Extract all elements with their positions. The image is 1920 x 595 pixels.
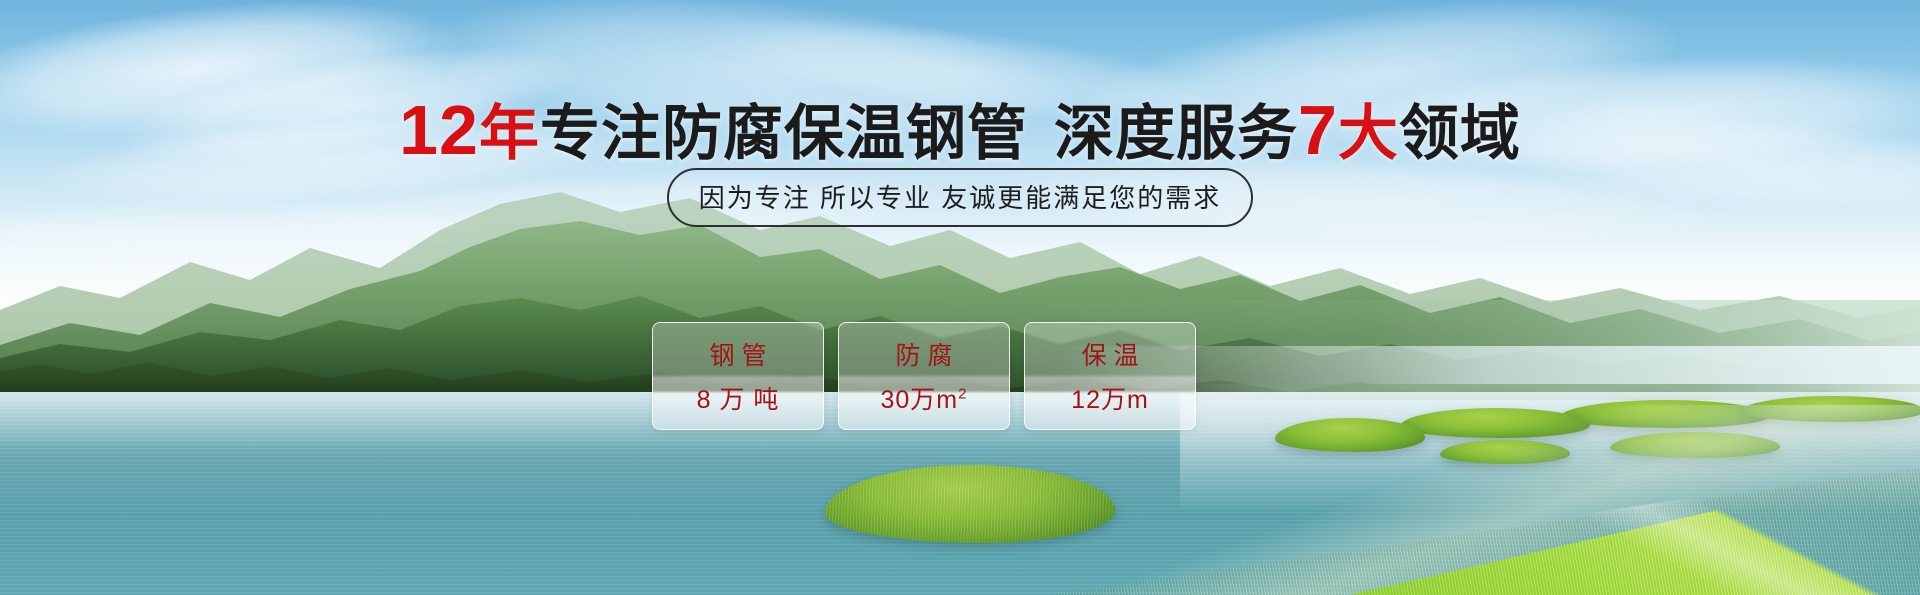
subtitle-pill: 因为专注 所以专业 友诚更能满足您的需求 (667, 168, 1253, 227)
stat-card-title: 防腐 (888, 336, 959, 372)
headline-service-text: 深度服务 (1054, 100, 1298, 167)
headline-focus-text: 专注防腐保温钢管 (540, 100, 1028, 167)
stat-card-value-base: 12万m (1071, 386, 1149, 414)
hero-banner: 12年专注防腐保温钢管深度服务7大领域 因为专注 所以专业 友诚更能满足您的需求… (0, 0, 1920, 595)
stat-card-steel-pipe[interactable]: 钢管 8 万 吨 (652, 322, 824, 430)
stat-card-value: 8 万 吨 (697, 380, 780, 416)
headline-years-number: 12 (399, 91, 479, 169)
headline-years-unit: 年 (479, 100, 540, 167)
page-title: 12年专注防腐保温钢管深度服务7大领域 (0, 85, 1920, 172)
headline-fields-tail: 领域 (1399, 100, 1521, 167)
stat-card-anticorrosion[interactable]: 防腐 30万m2 (838, 322, 1010, 430)
stat-card-title: 钢管 (702, 336, 773, 372)
stat-card-value: 30万m2 (881, 380, 968, 416)
stat-card-title: 保温 (1074, 336, 1145, 372)
stat-card-value-base: 8 万 吨 (697, 386, 780, 414)
stat-card-value: 12万m (1071, 380, 1149, 416)
subtitle-container: 因为专注 所以专业 友诚更能满足您的需求 (0, 168, 1920, 227)
stat-card-value-base: 30万m (881, 386, 959, 414)
stat-card-insulation[interactable]: 保温 12万m (1024, 322, 1196, 430)
headline-fields-number: 7 (1298, 91, 1338, 169)
stat-card-value-superscript: 2 (958, 386, 967, 403)
stat-card-group: 钢管 8 万 吨 防腐 30万m2 保温 12万m (652, 322, 1196, 430)
headline-fields-unit: 大 (1338, 100, 1399, 167)
